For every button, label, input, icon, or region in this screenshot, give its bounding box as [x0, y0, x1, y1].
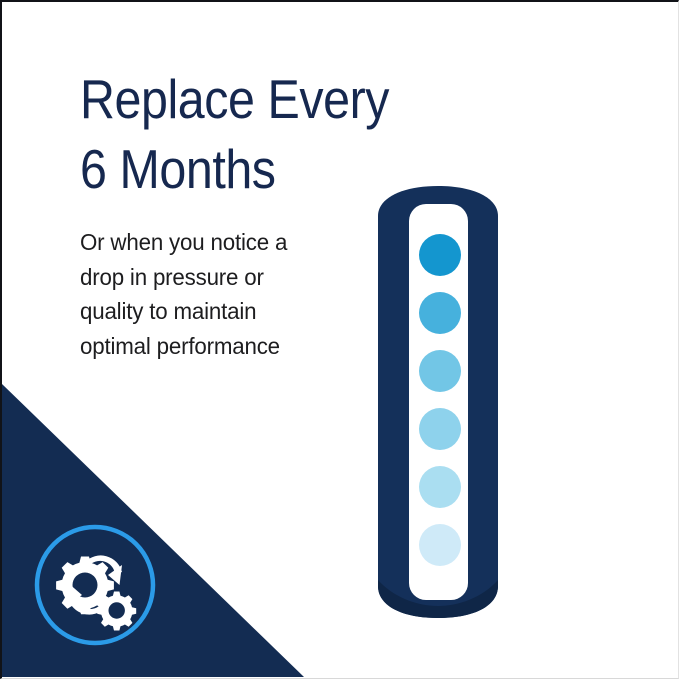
subtext-line-4: optimal performance: [80, 329, 356, 364]
cartridge-indicator-3: [419, 350, 461, 392]
gear-small-icon: [97, 592, 136, 631]
subtext-line-2: drop in pressure or: [80, 260, 356, 295]
cartridge-indicator-2: [419, 292, 461, 334]
infographic-card: Replace Every 6 Months Or when you notic…: [0, 0, 679, 679]
cartridge-indicator-6: [419, 524, 461, 566]
headline-line-2: 6 Months: [80, 134, 344, 204]
cartridge-indicator-4: [419, 408, 461, 450]
subtext-line-1: Or when you notice a: [80, 225, 356, 260]
headline-line-1: Replace Every: [80, 64, 344, 134]
cartridge-indicator-5: [419, 466, 461, 508]
badge-ring-icon: [37, 527, 153, 643]
subtext-line-3: quality to maintain: [80, 294, 356, 329]
water-filter-cartridge: [374, 182, 502, 622]
text-block: Replace Every 6 Months Or when you notic…: [80, 64, 380, 363]
maintenance-cycle-badge: [29, 519, 161, 651]
cartridge-indicator-1: [419, 234, 461, 276]
subtext-block: Or when you notice a drop in pressure or…: [80, 225, 356, 363]
